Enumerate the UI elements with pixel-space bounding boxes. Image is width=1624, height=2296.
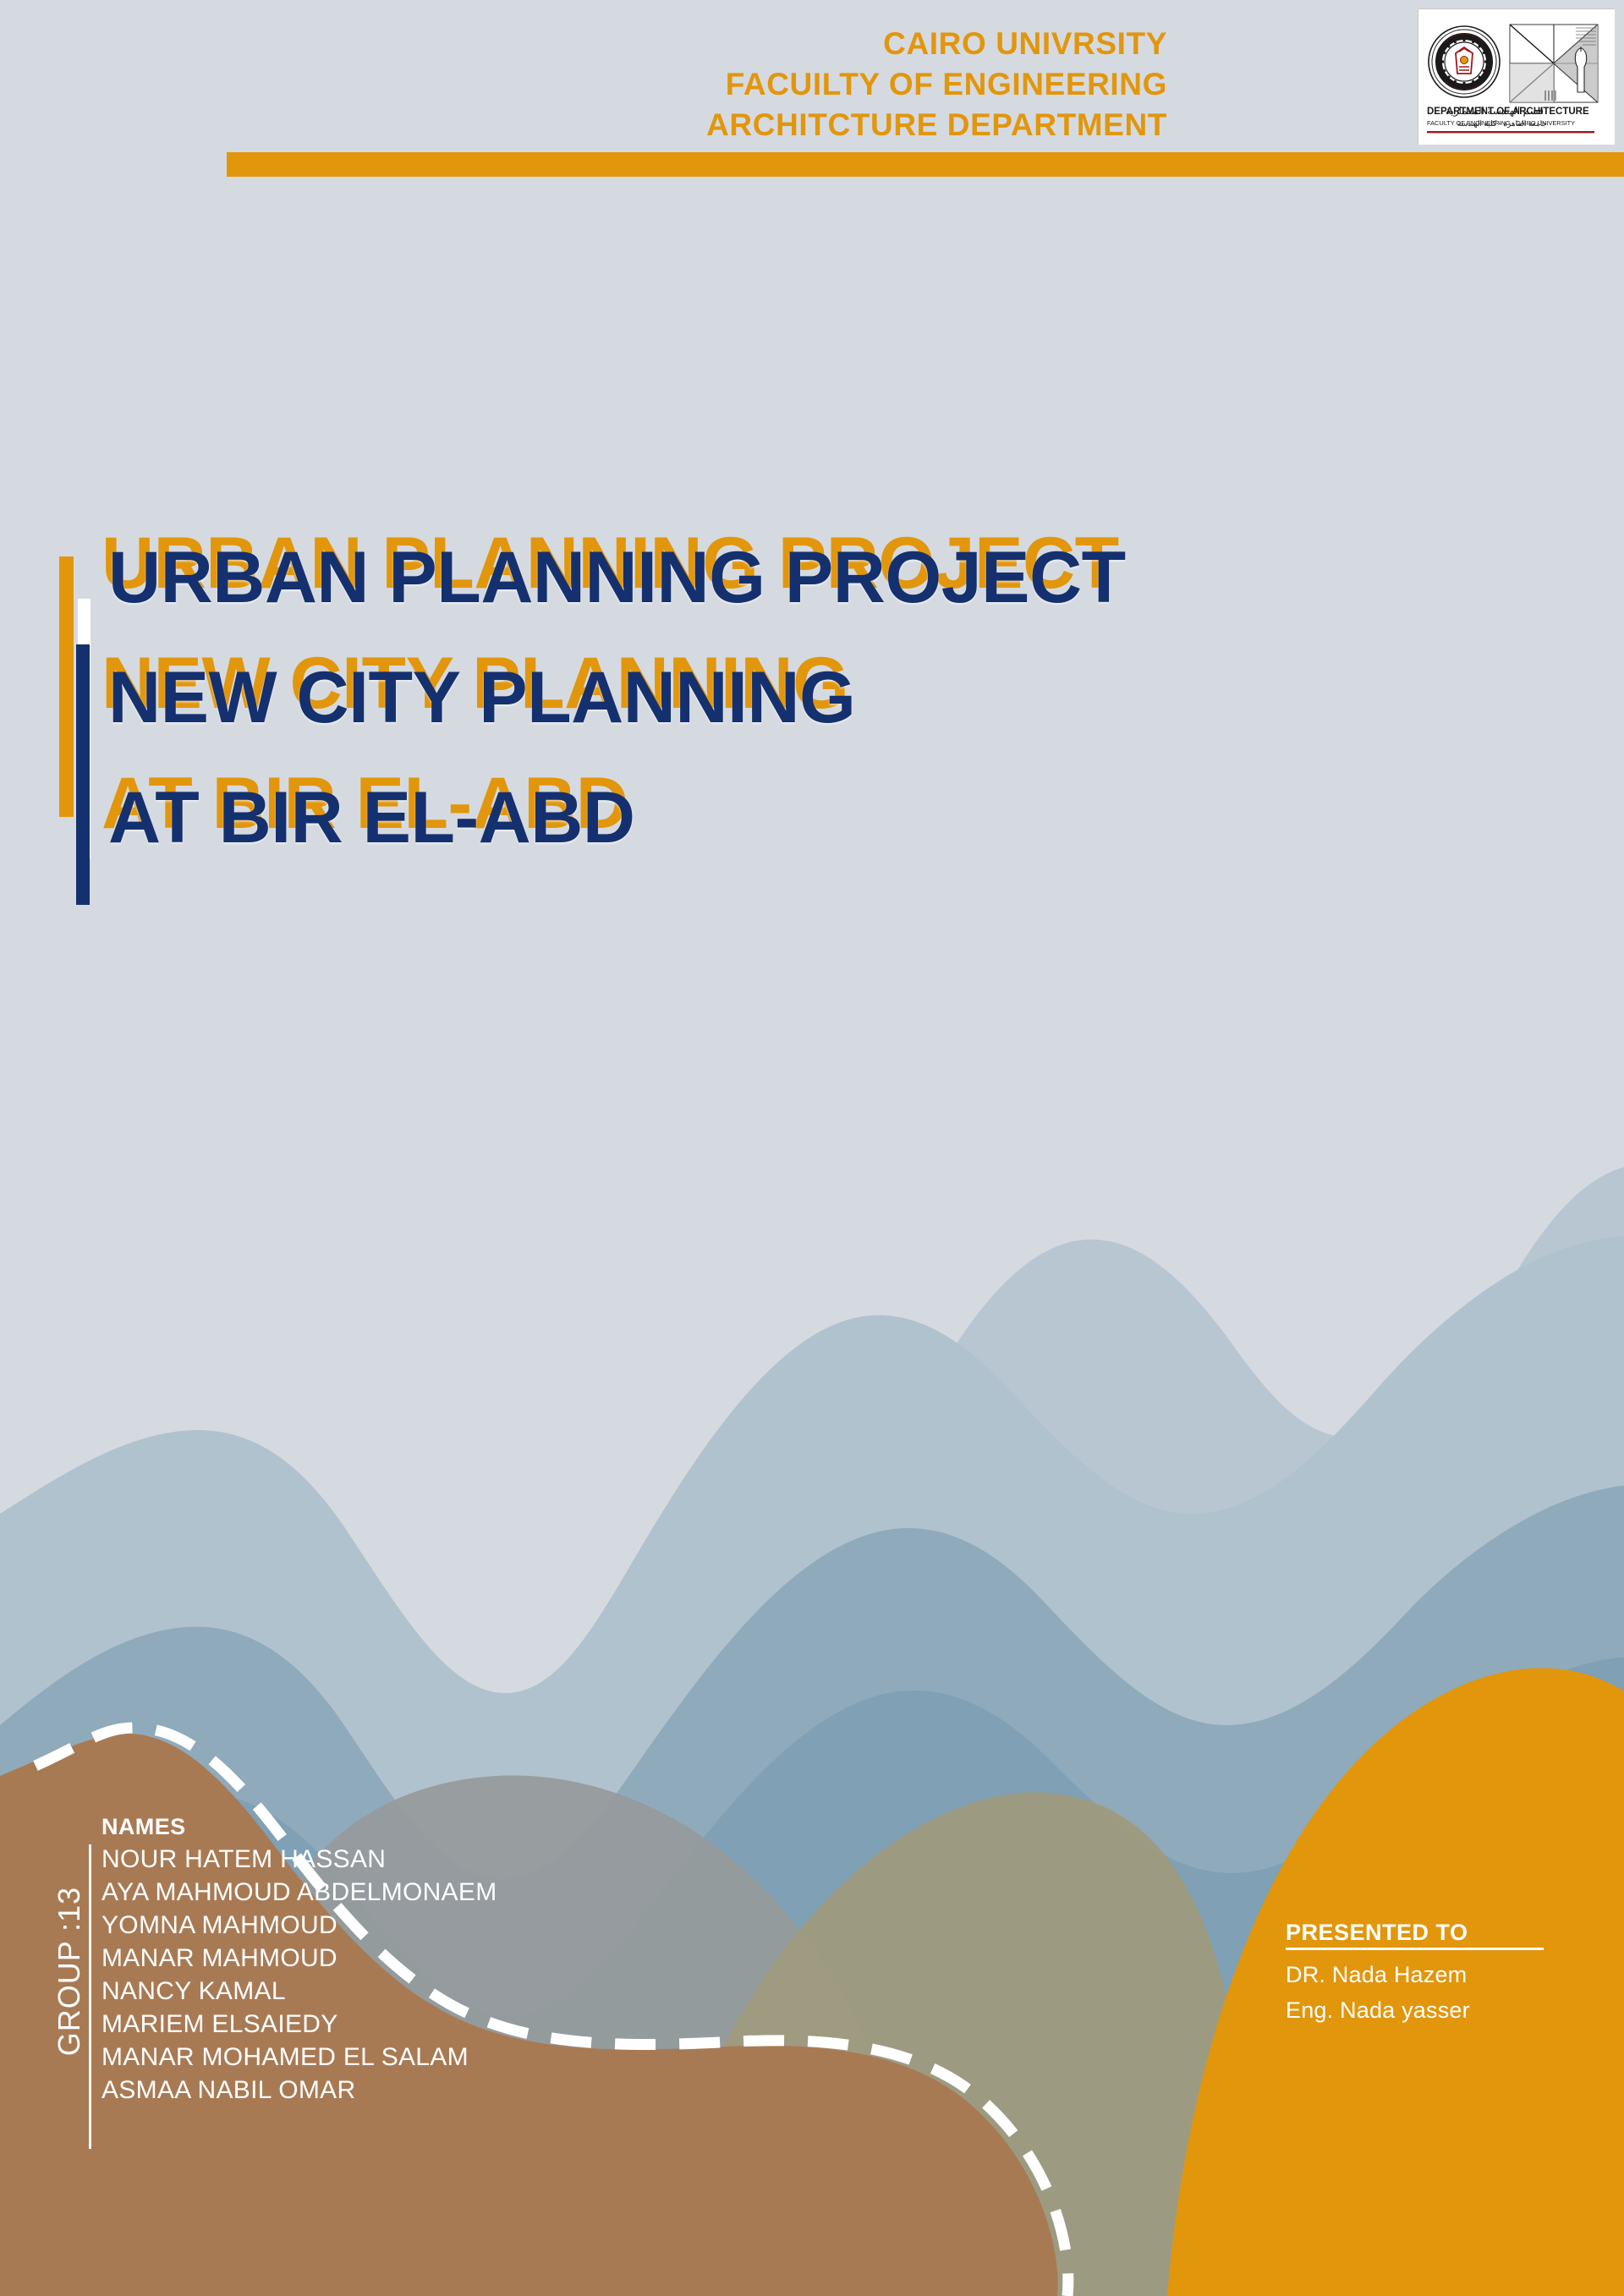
title-line-1-front: URBAN PLANNING PROJECT [108,541,1126,614]
presented-to-rule [1286,1948,1544,1950]
project-title-lines: URBAN PLANNING PROJECT URBAN PLANNING PR… [108,541,1225,863]
title-accent-bar-orange [59,556,74,817]
logo-accent-rule [1427,131,1594,133]
institution-line-3: ARCHITCTURE DEPARTMENT [706,105,1167,145]
title-accent-bar-navy [76,644,90,905]
name-item: NANCY KAMAL [101,1975,497,2008]
name-item: AYA MAHMOUD ABDELMONAEM [101,1876,497,1909]
names-block: NAMES NOUR HATEM HASSAN AYA MAHMOUD ABDE… [101,1814,497,2107]
title-line-1: URBAN PLANNING PROJECT URBAN PLANNING PR… [108,541,1225,622]
title-line-3-front: AT BIR EL-ABD [108,781,635,854]
group-label: GROUP :13 [52,1861,87,2081]
presented-to-block: PRESENTED TO DR. Nada Hazem Eng. Nada ya… [1286,1920,1556,2028]
logo-subcaption-ar: جامعة القاهرة - كلية الهندسة [1457,119,1547,129]
names-heading: NAMES [101,1814,497,1839]
presented-to-item: Eng. Nada yasser [1286,1992,1556,2028]
university-logo: DEPARTMENT OF ARCHITECTURE قسم الهندسة ا… [1418,8,1614,144]
header: CAIRO UNIVRSITY FACUILTY OF ENGINEERING … [0,0,1624,182]
title-line-2: NEW CITY PLANNING NEW CITY PLANNING [108,661,1225,743]
name-item: NOUR HATEM HASSAN [101,1843,497,1876]
logo-graphic: DEPARTMENT OF ARCHITECTURE قسم الهندسة ا… [1418,9,1615,145]
title-line-2-front: NEW CITY PLANNING [108,661,855,734]
project-title-block: URBAN PLANNING PROJECT URBAN PLANNING PR… [59,541,1243,896]
presented-to-heading: PRESENTED TO [1286,1920,1556,1945]
institution-line-1: CAIRO UNIVRSITY [706,24,1167,64]
name-item: MARIEM ELSAIEDY [101,2008,497,2041]
name-item: MANAR MOHAMED EL SALAM [101,2041,497,2074]
names-vertical-rule [89,1844,91,2149]
cairo-university-seal-icon [1429,26,1500,97]
title-line-3: AT BIR EL-ABD AT BIR EL-ABD [108,781,1225,863]
architecture-x-diagram-icon [1510,25,1598,102]
logo-caption-ar: قسم الهندسة المعمارية [1446,105,1544,117]
name-item: YOMNA MAHMOUD [101,1909,497,1942]
poster-cover-page: CAIRO UNIVRSITY FACUILTY OF ENGINEERING … [0,0,1624,2296]
name-item: MANAR MAHMOUD [101,1942,497,1975]
institution-line-2: FACUILTY OF ENGINEERING [706,64,1167,105]
presented-to-item: DR. Nada Hazem [1286,1957,1556,1992]
name-item: ASMAA NABIL OMAR [101,2074,497,2107]
institution-heading: CAIRO UNIVRSITY FACUILTY OF ENGINEERING … [706,24,1167,145]
